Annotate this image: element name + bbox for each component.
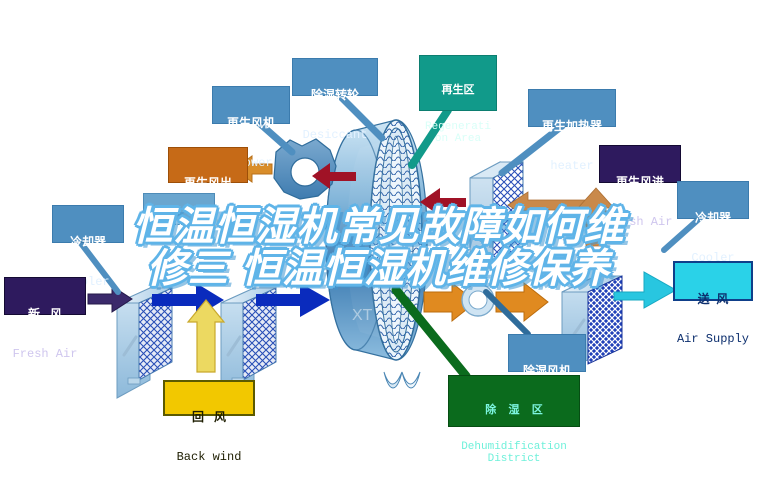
label-air-supply-en: Air Supply [675,333,751,346]
label-back-wind-cn: 回 风 [165,411,253,424]
label-desiccant-en: Desiccant [293,129,377,142]
label-fresh-air-in-cn: 新 风 [5,308,85,321]
arrow-air-supply [614,272,676,308]
label-regen-blower-cn: 再生风机 [213,117,289,130]
label-regen-heater: 再生加热器 heater [528,89,616,127]
label-regen-fresh-air-cn: 再生风进 [600,176,680,189]
label-back-wind: 回 风 Back wind [163,380,255,416]
label-regen-exhaust: 再生风出 Exhaust [168,147,248,183]
label-regen-fresh-air-en: Fresh Air [600,216,680,229]
label-cooler-right: 冷却器 Cooler [677,181,749,219]
label-dehumidification-district-en: Dehumidification District [449,441,579,466]
arrow-back-wind [188,300,224,372]
label-air-supply: 送 风 Air Supply [673,261,753,301]
label-dehumidification-district: 除 湿 区 Dehumidification District [448,375,580,427]
label-back-wind-en: Back wind [165,451,253,464]
label-regen-fresh-air: 再生风进 Fresh Air [599,145,681,183]
label-cooler-right-cn: 冷却器 [678,212,748,225]
label-cooler-left-2-cn: 冷却器 [144,221,214,233]
label-regen-heater-cn: 再生加热器 [529,120,615,133]
label-regeneration-area: 再生区 Regenerati on Area [419,55,497,111]
label-air-supply-cn: 送 风 [675,293,751,306]
label-fresh-air-in-en: Fresh Air [5,348,85,361]
label-desiccant: 除湿转轮 Desiccant [292,58,378,96]
label-cooler-left-1: 冷却器 Cooler [52,205,124,243]
arrow-dehum-orange-2 [496,283,548,321]
label-regen-blower: 再生风机 Blower [212,86,290,124]
label-desiccant-cn: 除湿转轮 [293,89,377,102]
label-fresh-air-in: 新 风 Fresh Air [4,277,86,315]
diagram-canvas: XT [0,0,757,488]
label-regeneration-area-cn: 再生区 [420,84,496,96]
regeneration-heater [470,162,523,276]
label-regeneration-area-en: Regenerati on Area [420,121,496,146]
label-cooler-left-1-cn: 冷却器 [53,236,123,249]
label-dehum-blower: 除湿风机 Blower [508,334,586,372]
svg-text:XT: XT [352,307,373,324]
label-cooler-left-2: 冷却器 [143,193,215,225]
dehumidification-blower [462,284,494,316]
label-dehumidification-district-cn: 除 湿 区 [449,404,579,416]
label-regen-exhaust-cn: 再生风出 [169,177,247,190]
